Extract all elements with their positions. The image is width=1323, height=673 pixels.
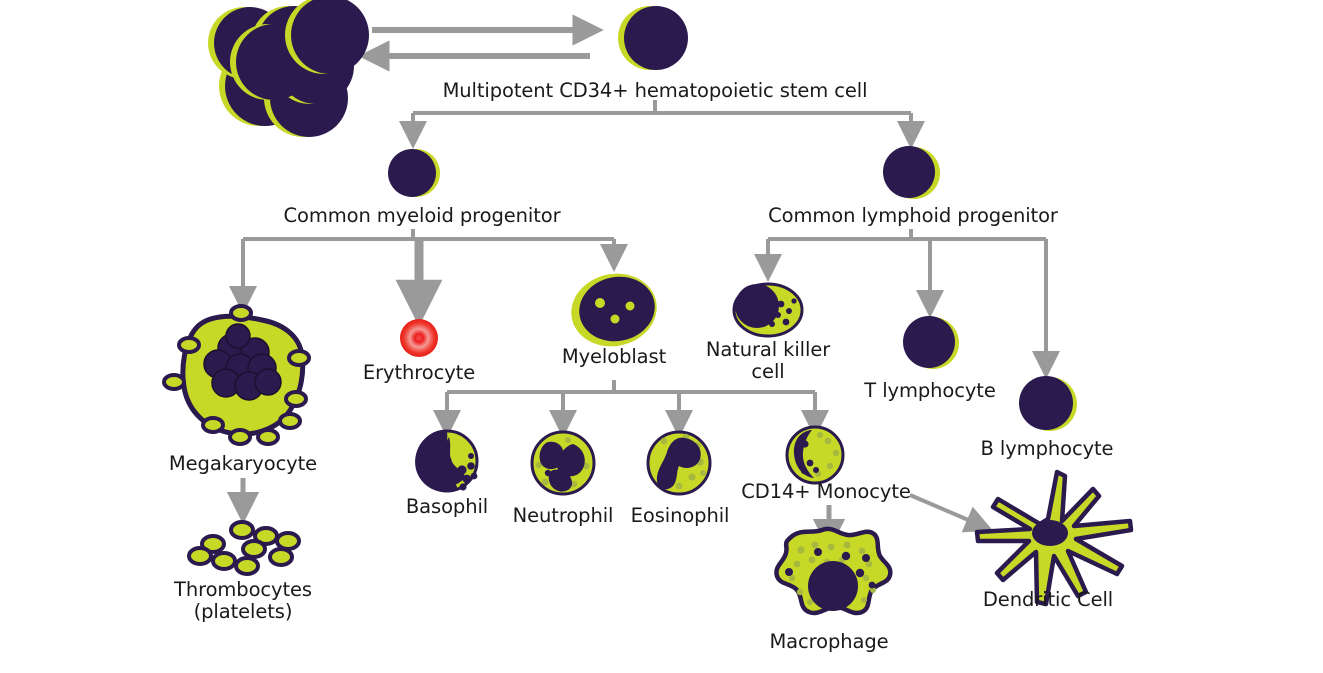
- lymphoid-progenitor-icon: [883, 146, 940, 199]
- label-t-lymphocyte: T lymphocyte: [864, 380, 995, 402]
- label-myeloid-progenitor: Common myeloid progenitor: [283, 205, 560, 227]
- erythrocyte-icon: [400, 319, 438, 357]
- eosinophil-icon: [648, 432, 710, 494]
- label-basophil: Basophil: [406, 496, 488, 518]
- label-neutrophil: Neutrophil: [513, 505, 614, 527]
- label-megakaryocyte: Megakaryocyte: [169, 453, 317, 475]
- label-dendritic-cell: Dendritic Cell: [983, 589, 1113, 611]
- edge-monocyte-to-dendritic: [910, 495, 980, 525]
- label-thrombocytes: Thrombocytes (platelets): [133, 579, 353, 623]
- label-thrombocytes-line2: (platelets): [133, 601, 353, 623]
- myeloblast-icon: [564, 266, 663, 354]
- label-thrombocytes-line1: Thrombocytes: [133, 579, 353, 601]
- label-monocyte: CD14+ Monocyte: [741, 481, 911, 503]
- label-nk-line2: cell: [673, 361, 863, 383]
- stem-cell-icon: [618, 6, 688, 70]
- label-myeloblast: Myeloblast: [562, 346, 666, 368]
- neutrophil-icon: [532, 432, 594, 494]
- label-b-lymphocyte: B lymphocyte: [981, 438, 1114, 460]
- b-lymphocyte-icon: [1019, 376, 1077, 431]
- label-erythrocyte: Erythrocyte: [363, 362, 475, 384]
- label-eosinophil: Eosinophil: [631, 505, 730, 527]
- label-stem-cell: Multipotent CD34+ hematopoietic stem cel…: [443, 80, 868, 102]
- hematopoiesis-diagram: Multipotent CD34+ hematopoietic stem cel…: [0, 0, 1323, 673]
- thrombocytes-icon: [189, 522, 299, 574]
- label-nk-line1: Natural killer: [673, 339, 863, 361]
- edge-myeloid-bracket: [243, 229, 614, 239]
- label-macrophage: Macrophage: [769, 631, 888, 653]
- basophil-icon: [415, 431, 477, 492]
- myeloid-progenitor-icon: [388, 149, 440, 197]
- nk-cell-icon: [734, 284, 802, 336]
- dendritic-cell-icon: [977, 472, 1131, 604]
- monocyte-icon: [787, 427, 843, 483]
- edge-lymphoid-bracket: [768, 229, 1046, 239]
- connectors: [243, 30, 1046, 535]
- t-lymphocyte-icon: [903, 316, 959, 369]
- megakaryocyte-icon: [164, 306, 309, 444]
- cell-cluster-icon: [208, 0, 369, 137]
- label-natural-killer-cell: Natural killer cell: [673, 339, 863, 383]
- label-lymphoid-progenitor: Common lymphoid progenitor: [768, 205, 1058, 227]
- macrophage-icon: [776, 529, 890, 613]
